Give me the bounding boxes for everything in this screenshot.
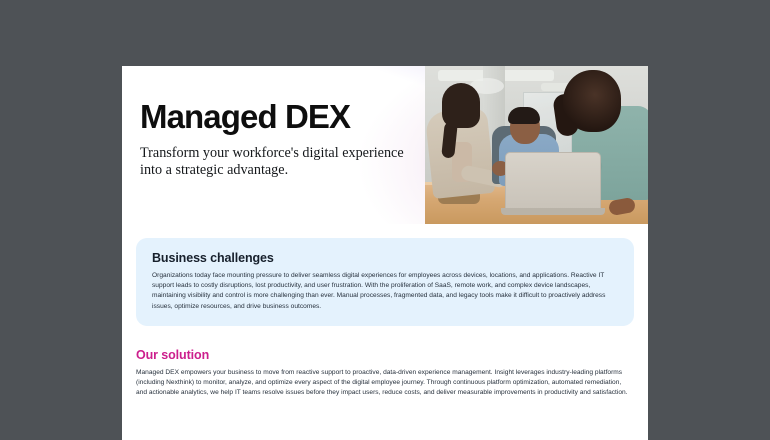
page-title: Managed DEX	[140, 100, 410, 133]
our-solution-body: Managed DEX empowers your business to mo…	[136, 368, 634, 399]
hero-banner: Managed DEX Transform your workforce's d…	[122, 66, 648, 224]
our-solution-section: Our solution Managed DEX empowers your b…	[122, 326, 648, 399]
business-challenges-heading: Business challenges	[152, 251, 618, 265]
person-right-hair	[563, 70, 621, 132]
our-solution-heading: Our solution	[136, 348, 634, 362]
laptop-screen	[505, 152, 601, 210]
business-challenges-body: Organizations today face mounting pressu…	[152, 271, 618, 312]
person-center-hair	[508, 107, 540, 124]
person-left-hair	[442, 83, 480, 128]
hero-text-block: Managed DEX Transform your workforce's d…	[140, 100, 410, 179]
hero-photo	[425, 66, 648, 224]
document-page: Managed DEX Transform your workforce's d…	[122, 66, 648, 440]
office-scene-illustration	[425, 66, 648, 224]
page-subtitle: Transform your workforce's digital exper…	[140, 145, 410, 179]
business-challenges-card: Business challenges Organizations today …	[136, 238, 634, 326]
laptop-base	[501, 208, 605, 215]
